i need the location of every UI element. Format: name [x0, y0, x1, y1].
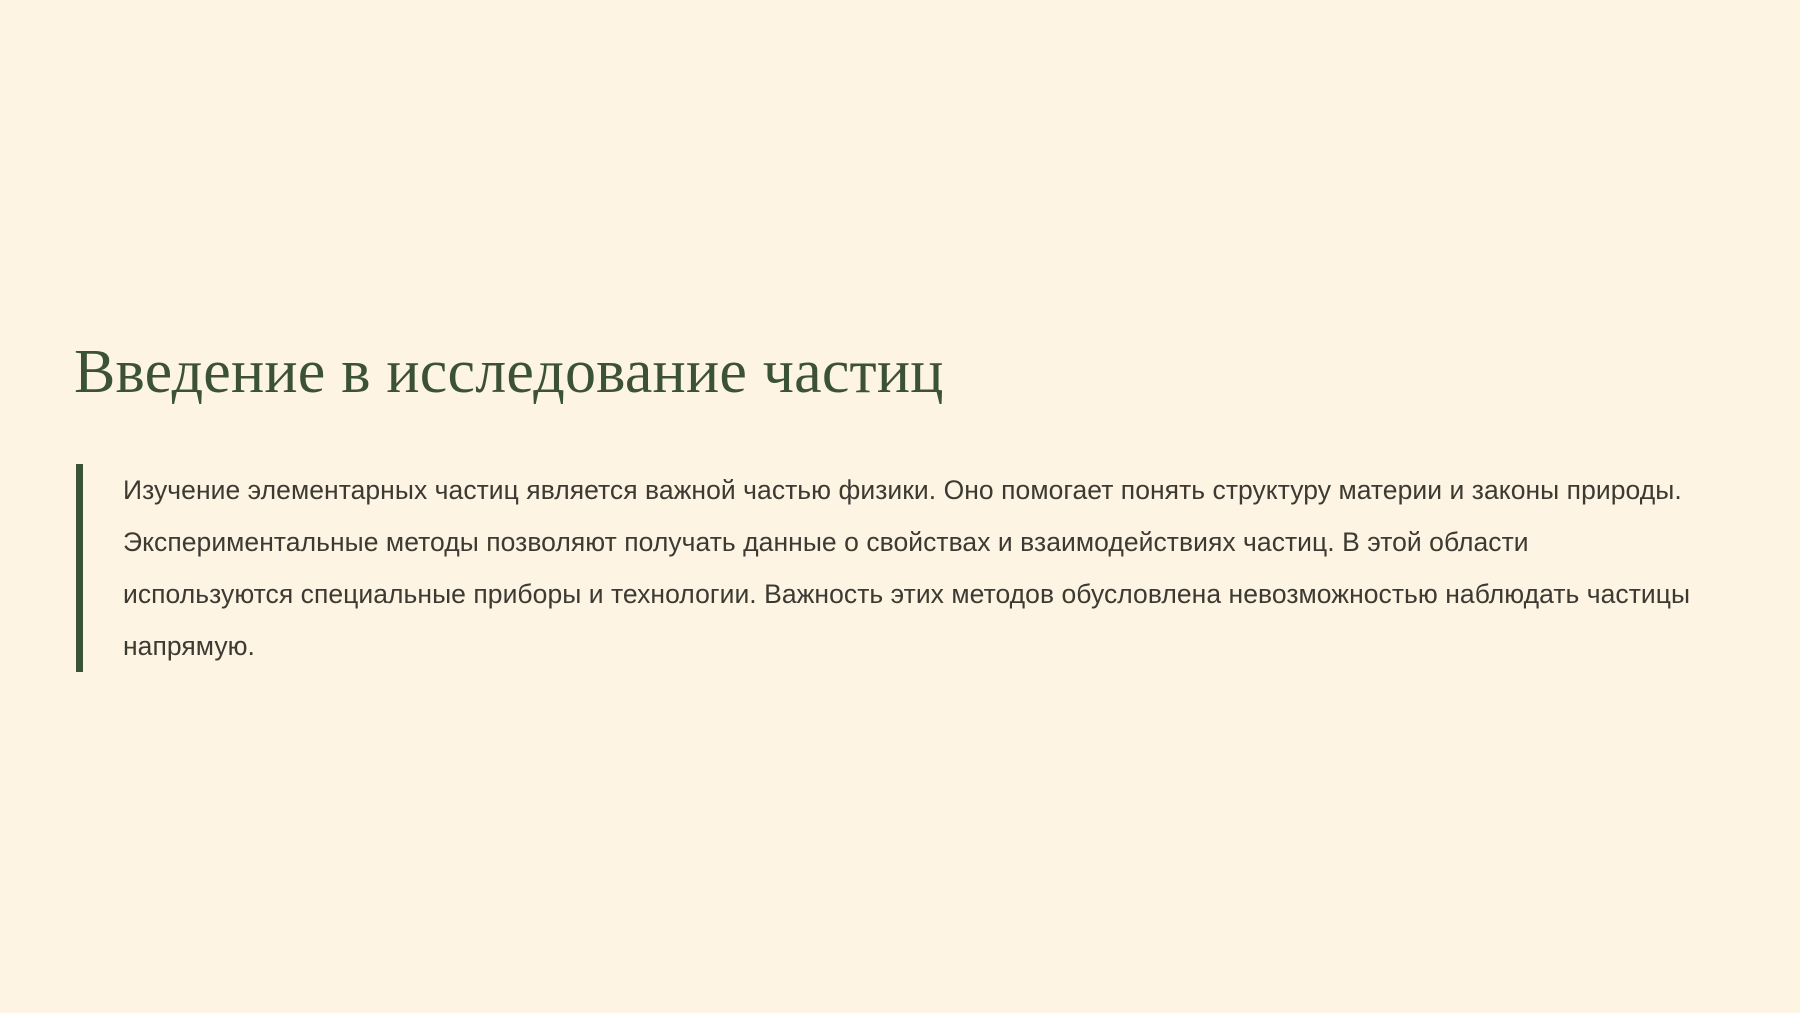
body-callout: Изучение элементарных частиц является ва…	[76, 464, 1696, 672]
body-paragraph: Изучение элементарных частиц является ва…	[83, 464, 1696, 672]
page-title: Введение в исследование частиц	[74, 338, 944, 407]
accent-bar	[76, 464, 83, 672]
slide-canvas: Введение в исследование частиц Изучение …	[0, 0, 1800, 1013]
